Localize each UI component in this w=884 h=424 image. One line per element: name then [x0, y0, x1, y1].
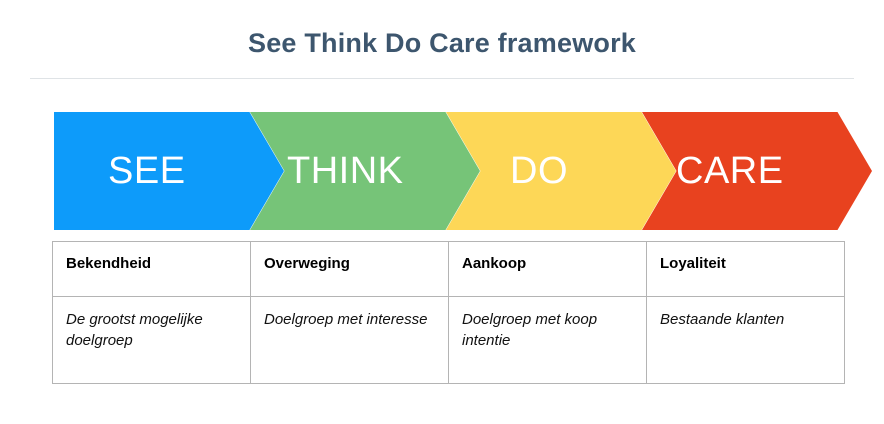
framework-table: Bekendheid Overweging Aankoop Loyaliteit… [52, 241, 845, 384]
table-row: De grootst mogelijke doelgroep Doelgroep… [53, 297, 845, 384]
stage-label-care: CARE [676, 112, 784, 230]
page-title: See Think Do Care framework [0, 26, 884, 60]
table-cell-aankoop: Doelgroep met koop intentie [449, 297, 647, 384]
stage-arrow-band: SEE THINK DO CARE [0, 112, 884, 230]
stage-label-think: THINK [287, 112, 404, 230]
table-cell-bekendheid: De grootst mogelijke doelgroep [53, 297, 251, 384]
table-cell-loyaliteit: Bestaande klanten [647, 297, 845, 384]
table-header-row: Bekendheid Overweging Aankoop Loyaliteit [53, 242, 845, 297]
table-cell-overweging: Doelgroep met interesse [251, 297, 449, 384]
table-header-bekendheid: Bekendheid [53, 242, 251, 297]
table-header-loyaliteit: Loyaliteit [647, 242, 845, 297]
title-divider [30, 78, 854, 79]
stage-label-do: DO [510, 112, 568, 230]
table-header-overweging: Overweging [251, 242, 449, 297]
stage-label-see: SEE [108, 112, 186, 230]
table-header-aankoop: Aankoop [449, 242, 647, 297]
